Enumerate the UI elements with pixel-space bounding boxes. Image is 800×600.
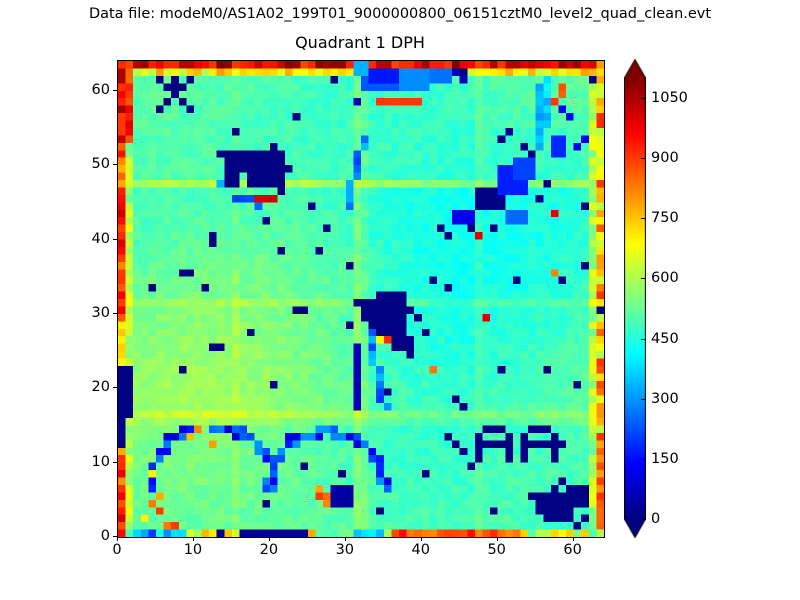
heatmap-image: [118, 61, 604, 537]
colorbar-tick-mark: [641, 98, 646, 99]
x-tick-mark: [345, 537, 346, 541]
x-tick-label: 0: [112, 542, 121, 558]
colorbar-tick-label: 150: [651, 451, 679, 467]
colorbar-tick-label: 900: [651, 150, 679, 166]
y-tick-mark: [113, 164, 117, 165]
colorbar-tick-mark: [641, 459, 646, 460]
y-tick-mark: [113, 313, 117, 314]
data-file-suptitle: Data file: modeM0/AS1A02_199T01_90000008…: [0, 6, 800, 22]
colorbar-tick-mark: [641, 339, 646, 340]
y-tick-label: 40: [92, 231, 110, 247]
y-tick-label: 0: [101, 528, 110, 544]
colorbar-tick-label: 750: [651, 210, 679, 226]
x-tick-label: 30: [336, 542, 354, 558]
colorbar-tick-mark: [641, 158, 646, 159]
y-tick-label: 10: [92, 454, 110, 470]
plot-title: Quadrant 1 DPH: [117, 33, 603, 52]
y-tick-label: 50: [92, 156, 110, 172]
colorbar: [624, 59, 646, 538]
x-tick-label: 20: [260, 542, 278, 558]
x-tick-mark: [497, 537, 498, 541]
y-tick-mark: [113, 90, 117, 91]
y-tick-label: 60: [92, 82, 110, 98]
y-tick-mark: [113, 536, 117, 537]
colorbar-tick-label: 0: [651, 511, 660, 527]
colorbar-tick-label: 600: [651, 270, 679, 286]
y-tick-mark: [113, 462, 117, 463]
x-tick-label: 40: [412, 542, 430, 558]
y-tick-label: 20: [92, 379, 110, 395]
x-tick-label: 60: [563, 542, 581, 558]
heatmap-axes: [117, 60, 605, 538]
colorbar-tick-label: 300: [651, 391, 679, 407]
colorbar-tick-mark: [641, 278, 646, 279]
colorbar-tick-mark: [641, 519, 646, 520]
y-tick-mark: [113, 239, 117, 240]
x-tick-mark: [269, 537, 270, 541]
x-tick-mark: [193, 537, 194, 541]
x-tick-mark: [117, 537, 118, 541]
colorbar-tick-mark: [641, 218, 646, 219]
x-tick-label: 50: [487, 542, 505, 558]
x-tick-mark: [573, 537, 574, 541]
figure-canvas: Data file: modeM0/AS1A02_199T01_90000008…: [0, 0, 800, 600]
y-tick-label: 30: [92, 305, 110, 321]
colorbar-tick-mark: [641, 399, 646, 400]
x-tick-mark: [421, 537, 422, 541]
colorbar-gradient: [624, 59, 646, 538]
x-tick-label: 10: [184, 542, 202, 558]
colorbar-tick-label: 450: [651, 331, 679, 347]
colorbar-tick-label: 1050: [651, 90, 688, 106]
y-tick-mark: [113, 387, 117, 388]
